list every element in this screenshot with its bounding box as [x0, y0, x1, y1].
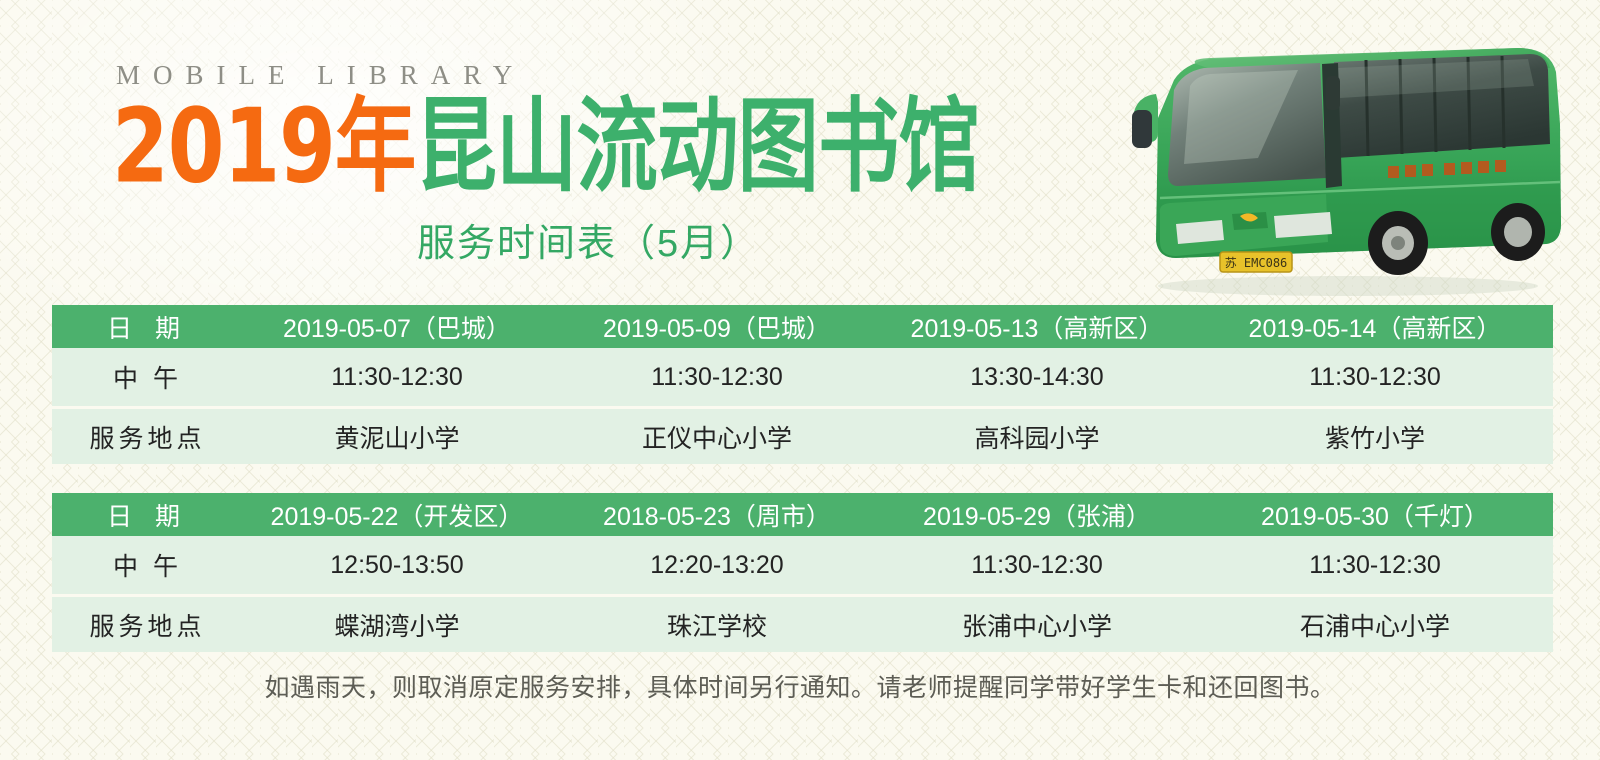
schedule-table-2: 日 期 2019-05-22（开发区） 2018-05-23（周市） 2019-… — [52, 493, 1553, 652]
title-year: 2019年 — [112, 86, 415, 206]
poster-root: MOBILE LIBRARY 2019年昆山流动图书馆 服务时间表（5月） — [0, 0, 1600, 760]
bus-mirror-glass — [1132, 110, 1152, 148]
bus-shadow — [1158, 276, 1538, 296]
time-cell-3: 11:30-12:30 — [877, 551, 1197, 580]
time-cell-1: 11:30-12:30 — [237, 363, 557, 392]
time-cell-4: 11:30-12:30 — [1197, 551, 1553, 580]
time-cell-3: 13:30-14:30 — [877, 363, 1197, 392]
location-cell-1: 黄泥山小学 — [237, 419, 557, 455]
page-subtitle: 服务时间表（5月） — [417, 212, 760, 267]
bus-wheel-front — [1368, 211, 1428, 275]
time-cell-1: 12:50-13:50 — [237, 551, 557, 580]
table-row: 中 午 12:50-13:50 12:20-13:20 11:30-12:30 … — [52, 536, 1553, 594]
header-cell-1: 2019-05-07（巴城） — [237, 309, 557, 345]
header-cell-2: 2019-05-09（巴城） — [557, 309, 877, 345]
bus-wheel-rear — [1491, 203, 1545, 261]
bus-mirror-right — [1326, 76, 1340, 110]
location-cell-3: 张浦中心小学 — [877, 607, 1197, 643]
table-row: 中 午 11:30-12:30 11:30-12:30 13:30-14:30 … — [52, 348, 1553, 406]
bus-icon: 苏 EMC086 — [1098, 28, 1590, 298]
footnote-text: 如遇雨天，则取消原定服务安排，具体时间另行通知。请老师提醒同学带好学生卡和还回图… — [0, 668, 1600, 704]
header-cell-1: 2019-05-22（开发区） — [237, 497, 557, 533]
location-cell-3: 高科园小学 — [877, 419, 1197, 455]
header-cell-4: 2019-05-14（高新区） — [1197, 309, 1553, 345]
eyebrow-text: MOBILE LIBRARY — [116, 62, 1072, 89]
header-cell-2: 2018-05-23（周市） — [557, 497, 877, 533]
page-title: 2019年昆山流动图书馆 — [112, 95, 1043, 200]
location-cell-2: 正仪中心小学 — [557, 419, 877, 455]
table-row: 服务地点 蝶湖湾小学 珠江学校 张浦中心小学 石浦中心小学 — [52, 594, 1553, 652]
time-cell-2: 12:20-13:20 — [557, 551, 877, 580]
row-label: 日 期 — [52, 497, 237, 533]
title-main: 昆山流动图书馆 — [415, 86, 979, 206]
table-row: 服务地点 黄泥山小学 正仪中心小学 高科园小学 紫竹小学 — [52, 406, 1553, 464]
poster-header: MOBILE LIBRARY 2019年昆山流动图书馆 服务时间表（5月） — [112, 62, 1072, 181]
table-row: 日 期 2019-05-22（开发区） 2018-05-23（周市） 2019-… — [52, 493, 1553, 536]
headlight-left — [1176, 220, 1224, 244]
row-label: 日 期 — [52, 309, 237, 345]
license-plate-text: 苏 EMC086 — [1225, 256, 1288, 270]
location-cell-4: 紫竹小学 — [1197, 419, 1553, 455]
row-label: 中 午 — [52, 547, 237, 583]
location-cell-2: 珠江学校 — [557, 607, 877, 643]
time-cell-2: 11:30-12:30 — [557, 363, 877, 392]
headlight-right — [1274, 212, 1332, 238]
header-cell-3: 2019-05-13（高新区） — [877, 309, 1197, 345]
table-row: 日 期 2019-05-07（巴城） 2019-05-09（巴城） 2019-0… — [52, 305, 1553, 348]
location-cell-4: 石浦中心小学 — [1197, 607, 1553, 643]
header-cell-3: 2019-05-29（张浦） — [877, 497, 1197, 533]
header-cell-4: 2019-05-30（千灯） — [1197, 497, 1553, 533]
location-cell-1: 蝶湖湾小学 — [237, 607, 557, 643]
bus-illustration: 苏 EMC086 — [1098, 28, 1590, 298]
row-label: 中 午 — [52, 359, 237, 395]
row-label: 服务地点 — [52, 419, 237, 455]
schedule-table-1: 日 期 2019-05-07（巴城） 2019-05-09（巴城） 2019-0… — [52, 305, 1553, 464]
time-cell-4: 11:30-12:30 — [1197, 363, 1553, 392]
row-label: 服务地点 — [52, 607, 237, 643]
